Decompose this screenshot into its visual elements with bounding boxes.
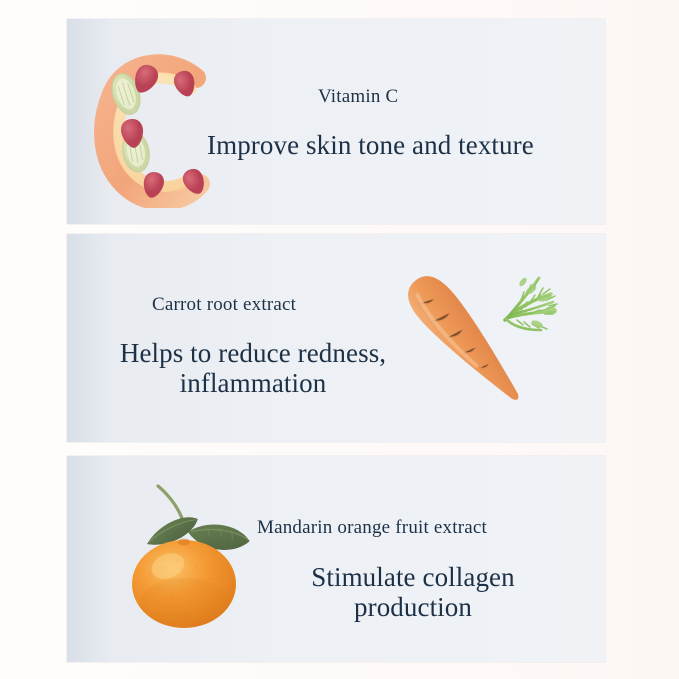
benefit-text-mandarin: Stimulate collagen production xyxy=(285,562,541,622)
vitamin-c-letter-fruit-icon xyxy=(92,48,210,208)
infographic-stage: Vitamin C Improve skin tone and texture xyxy=(0,0,679,679)
ingredient-label-mandarin: Mandarin orange fruit extract xyxy=(257,517,487,538)
ingredient-label-carrot: Carrot root extract xyxy=(152,294,296,315)
ingredient-label-vitamin-c: Vitamin C xyxy=(318,86,398,107)
mandarin-orange-icon xyxy=(92,478,274,630)
benefit-text-carrot: Helps to reduce redness, inflammation xyxy=(93,338,413,398)
benefit-text-vitamin-c: Improve skin tone and texture xyxy=(207,130,534,160)
